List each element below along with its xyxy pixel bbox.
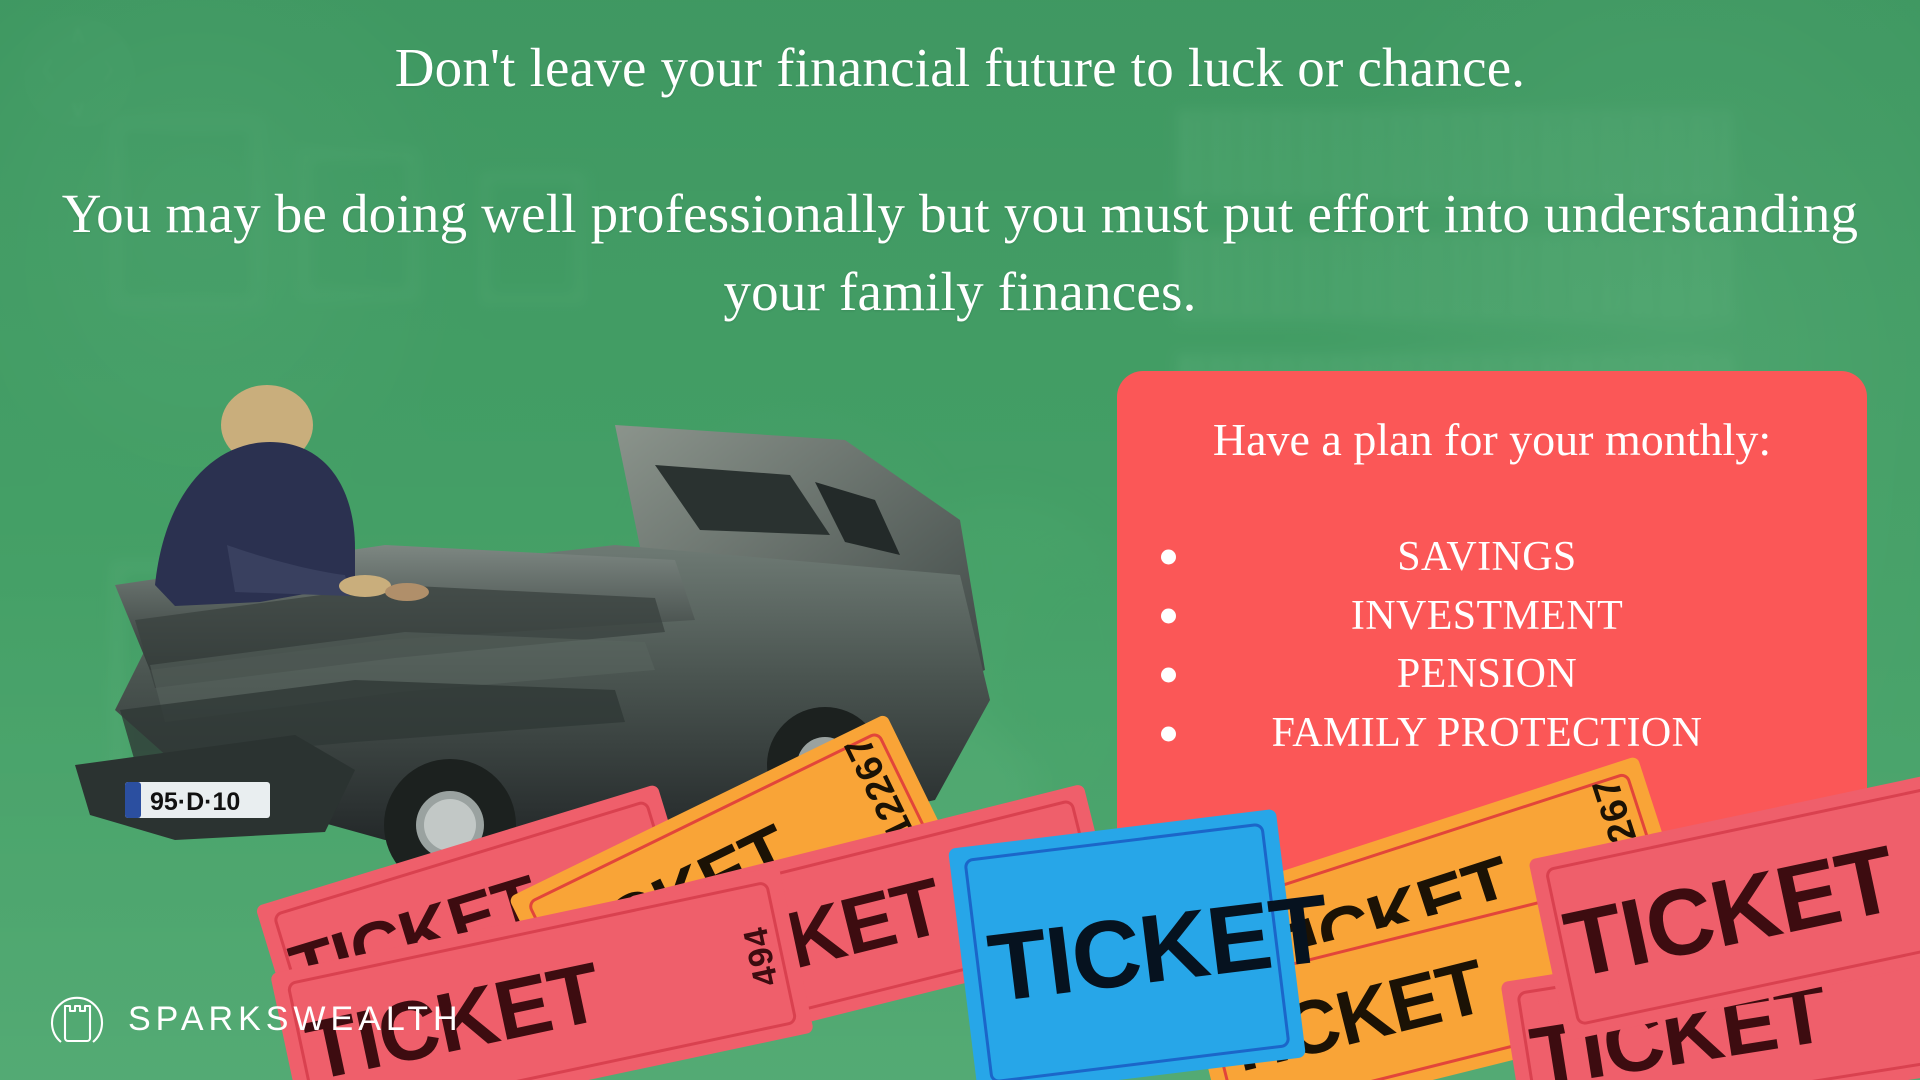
- plan-bullet-list: SAVINGS INVESTMENT PENSION FAMILY PROTEC…: [1117, 528, 1867, 763]
- list-item: INVESTMENT: [1117, 587, 1857, 646]
- bullet-dot-icon: [1161, 550, 1176, 565]
- list-item: PENSION: [1117, 645, 1857, 704]
- brand-name: SPARKSWEALTH: [128, 1000, 463, 1039]
- castle-tower-circle-icon: [48, 990, 106, 1048]
- panel-title: Have a plan for your monthly:: [1117, 371, 1867, 470]
- brand-logo[interactable]: SPARKSWEALTH: [48, 990, 463, 1048]
- plan-panel: Have a plan for your monthly: SAVINGS IN…: [1117, 371, 1867, 881]
- headline-block: Don't leave your financial future to luc…: [0, 0, 1920, 331]
- list-item: SAVINGS: [1117, 528, 1857, 587]
- list-item-label: FAMILY PROTECTION: [1272, 710, 1703, 756]
- list-item: FAMILY PROTECTION: [1117, 704, 1857, 763]
- bullet-dot-icon: [1161, 667, 1176, 682]
- bullet-dot-icon: [1161, 726, 1176, 741]
- bullet-dot-icon: [1161, 609, 1176, 624]
- headline-secondary: You may be doing well professionally but…: [50, 101, 1870, 331]
- svg-text:95·D·10: 95·D·10: [150, 788, 240, 816]
- headline-primary: Don't leave your financial future to luc…: [0, 0, 1920, 101]
- list-item-label: PENSION: [1397, 651, 1577, 697]
- list-item-label: SAVINGS: [1397, 534, 1576, 580]
- list-item-label: INVESTMENT: [1351, 593, 1623, 639]
- crashed-car-photo: 95·D·10: [55, 370, 1055, 870]
